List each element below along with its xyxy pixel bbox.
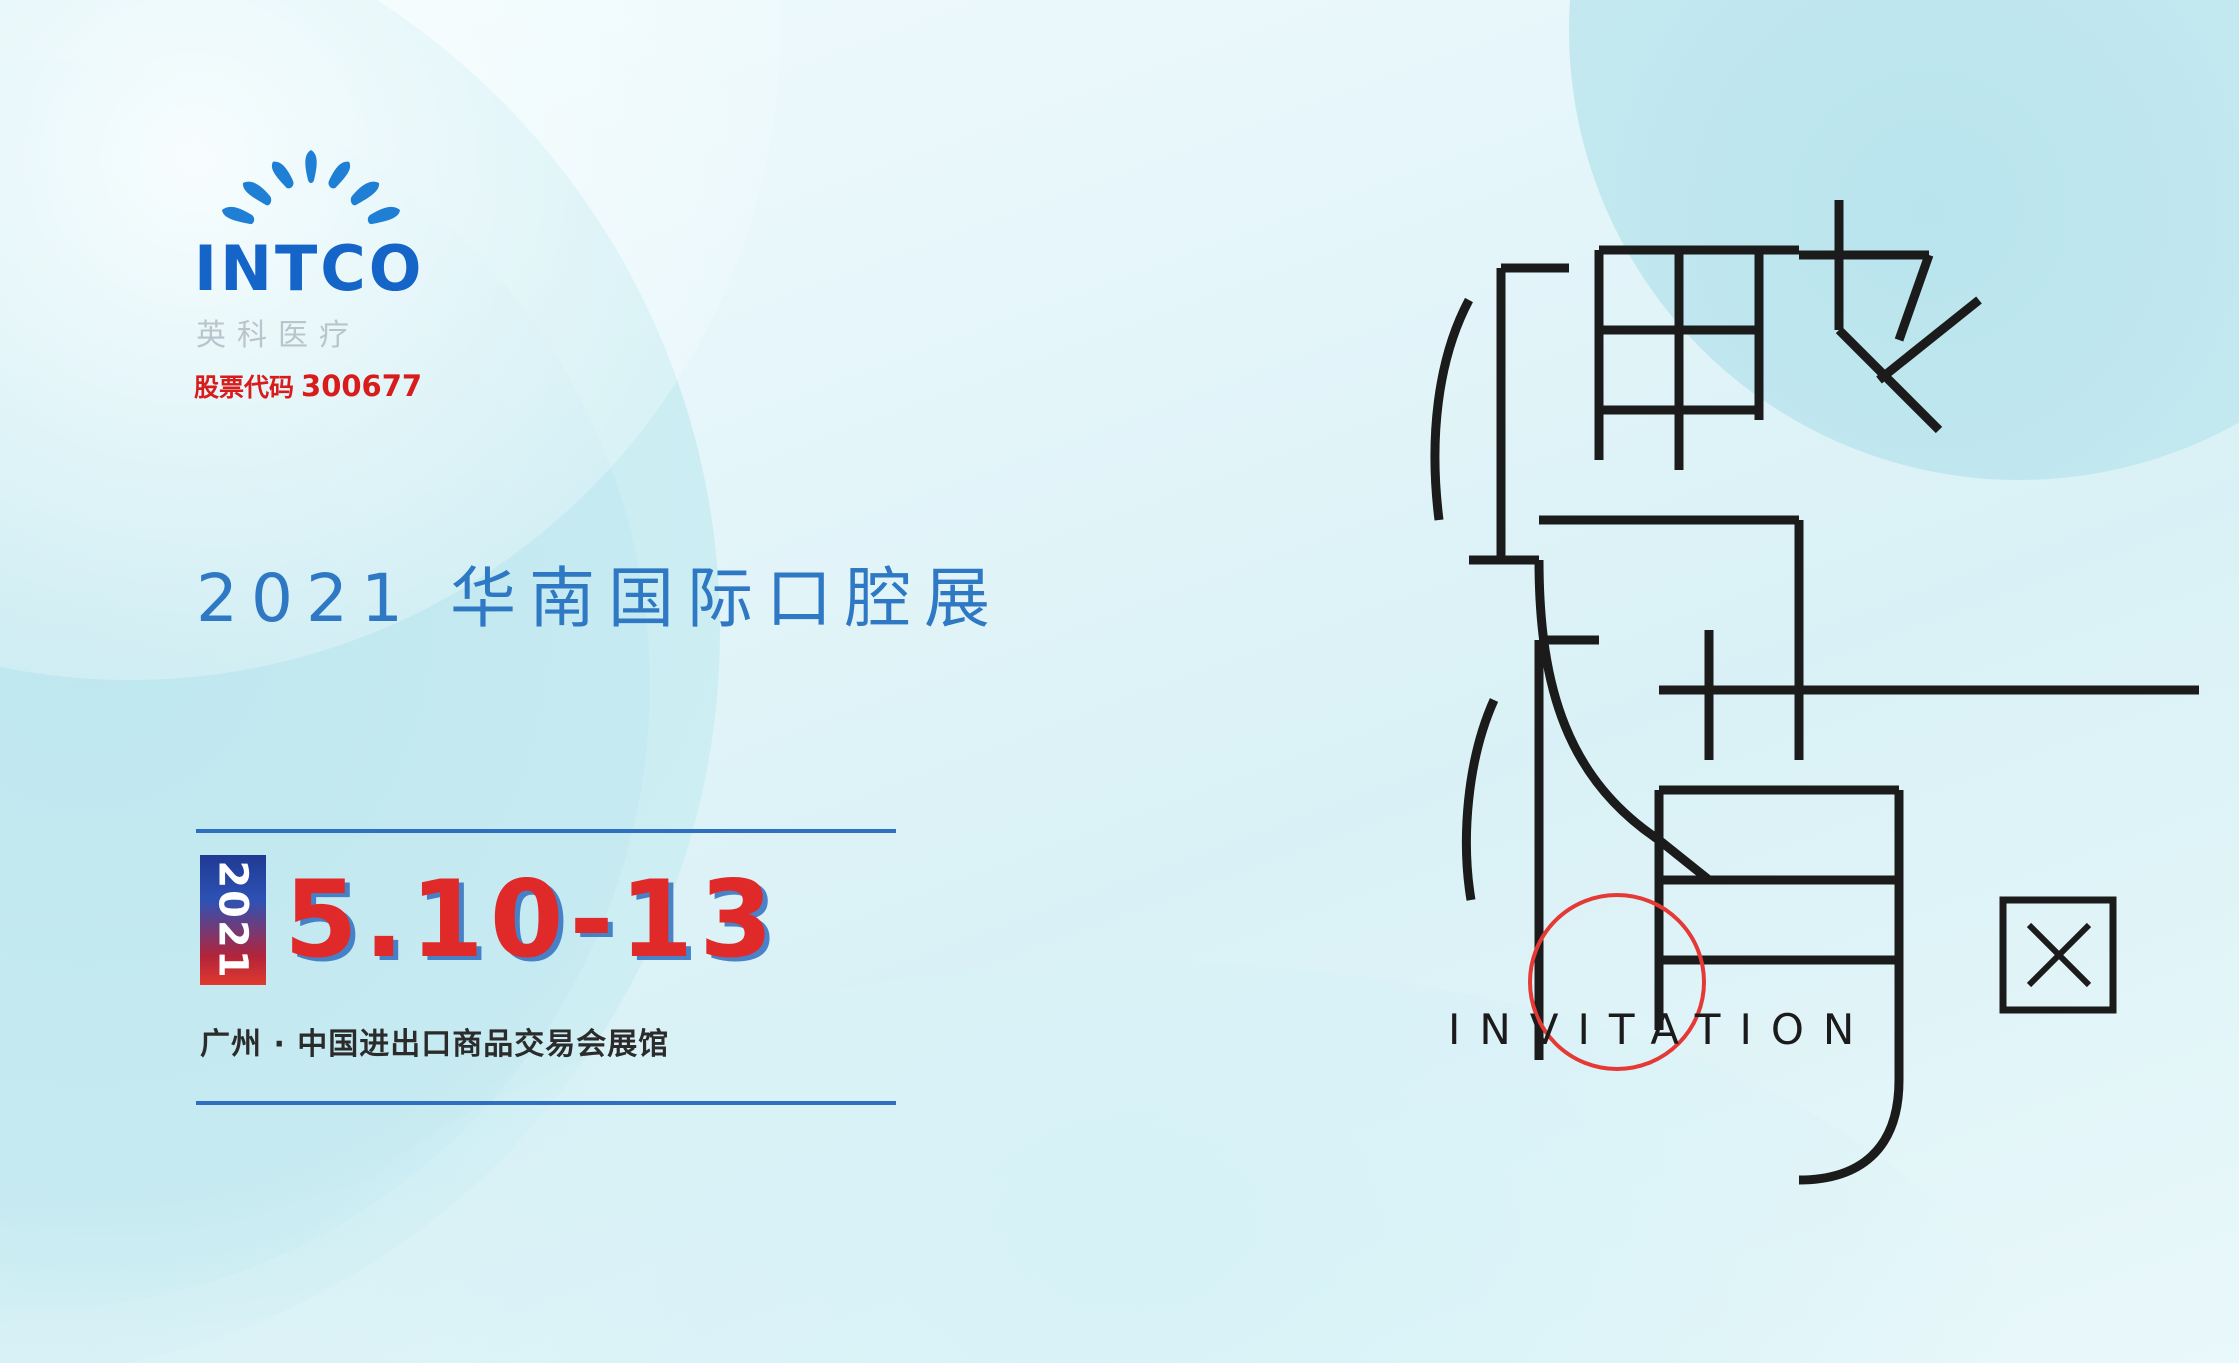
char-han-box: [2003, 900, 2113, 1010]
char-yao-strokes: [1435, 200, 1979, 880]
event-venue: 广州 · 中国进出口商品交易会展馆: [200, 1019, 669, 1063]
stock-code-value: 300677: [301, 369, 422, 403]
brand-name: INTCO: [194, 238, 512, 300]
year-badge-label: 2021: [210, 860, 256, 979]
year-badge: 2021: [200, 855, 266, 985]
stock-code-label: 股票代码: [194, 368, 294, 404]
divider-bottom: [196, 1101, 896, 1105]
event-title: 2021 华南国际口腔展: [196, 545, 1003, 641]
event-dates: 5.10-13: [284, 867, 779, 973]
sunburst-icon: [216, 150, 406, 236]
invitation-artwork: [1239, 0, 2239, 1363]
event-date-row: 2021 5.10-13: [200, 855, 779, 985]
brand-name-cn: 英科医疗: [196, 310, 512, 354]
invitation-label: INVITATION: [1448, 1005, 1873, 1054]
stock-code-line: 股票代码 300677: [194, 368, 512, 404]
brand-logo-block: INTCO 英科医疗 股票代码 300677: [192, 150, 512, 404]
invitation-poster: INTCO 英科医疗 股票代码 300677 2021 华南国际口腔展 2021…: [0, 0, 2239, 1363]
divider-top: [196, 829, 896, 833]
